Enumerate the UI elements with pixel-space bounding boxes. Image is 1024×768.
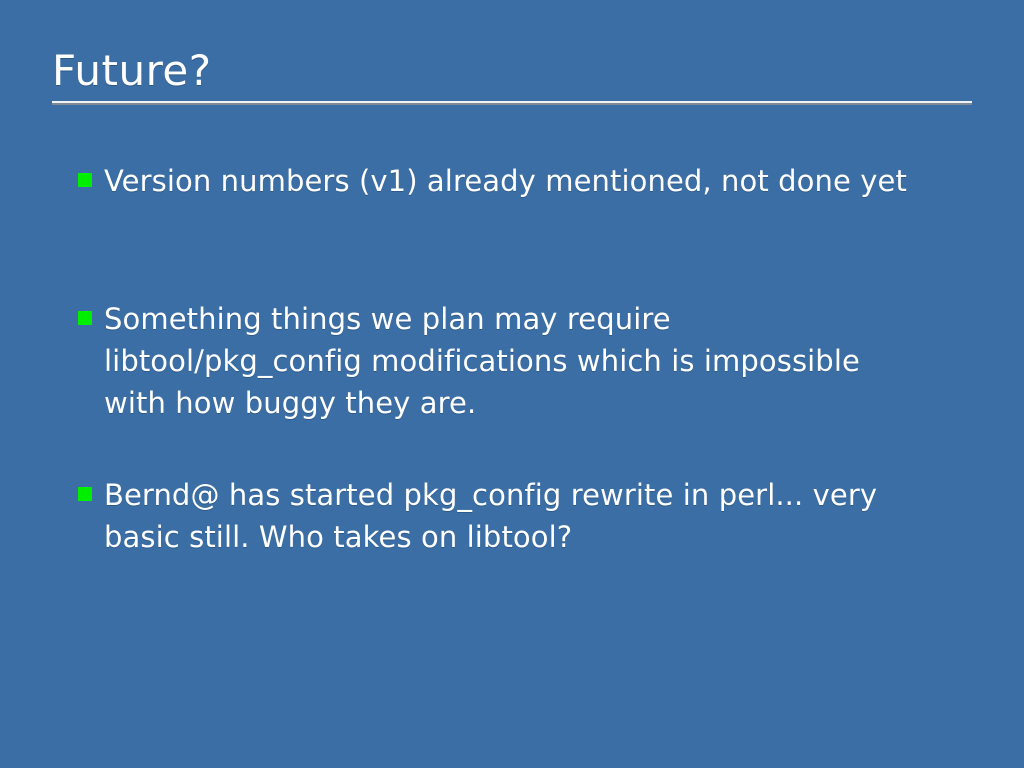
- bullet-line: Bernd@ has started pkg_config rewrite in…: [104, 474, 877, 516]
- bullet-line: basic still. Who takes on libtool?: [104, 516, 877, 558]
- bullet-line: Version numbers (v1) already mentioned, …: [104, 160, 907, 202]
- slide-body: Version numbers (v1) already mentioned, …: [78, 160, 968, 558]
- bullet-text-block: Version numbers (v1) already mentioned, …: [104, 160, 907, 202]
- bullet-spacer: [78, 202, 968, 298]
- title-underline-shadow: [52, 103, 972, 105]
- list-item: Bernd@ has started pkg_config rewrite in…: [78, 474, 968, 558]
- bullet-text-block: Something things we plan may require lib…: [104, 298, 860, 424]
- slide-title-block: Future?: [52, 46, 972, 96]
- bullet-text-block: Bernd@ has started pkg_config rewrite in…: [104, 474, 877, 558]
- bullet-line: Something things we plan may require: [104, 298, 860, 340]
- bullet-spacer: [78, 424, 968, 474]
- green-square-bullet-icon: [78, 311, 92, 325]
- page-title: Future?: [52, 46, 972, 96]
- list-item: Something things we plan may require lib…: [78, 298, 968, 424]
- bullet-line: with how buggy they are.: [104, 382, 860, 424]
- list-item: Version numbers (v1) already mentioned, …: [78, 160, 968, 202]
- bullet-line: libtool/pkg_config modifications which i…: [104, 340, 860, 382]
- green-square-bullet-icon: [78, 173, 92, 187]
- presentation-slide: Future? Version numbers (v1) already men…: [0, 0, 1024, 768]
- green-square-bullet-icon: [78, 487, 92, 501]
